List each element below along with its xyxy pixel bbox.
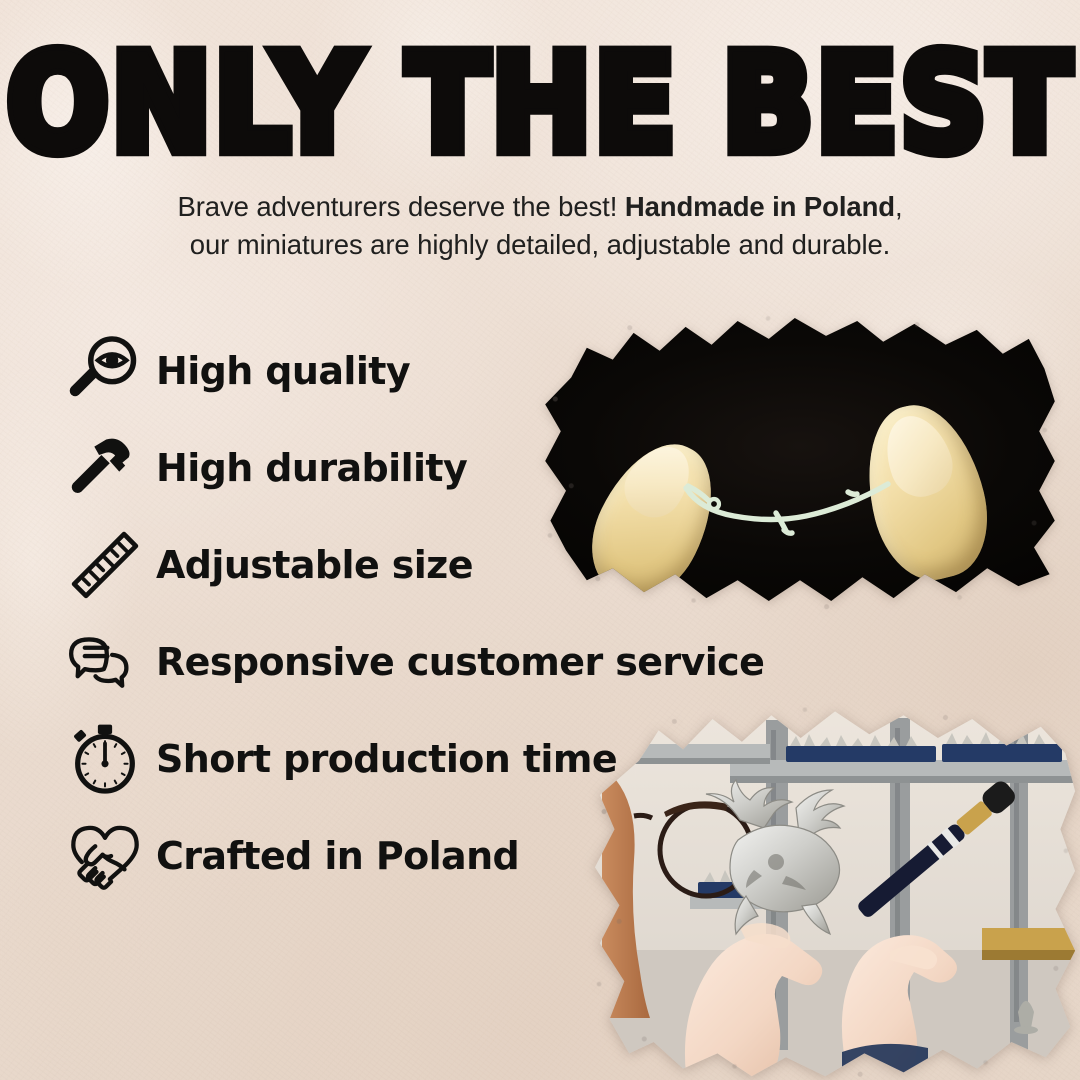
promo-poster: ONLY THE BEST Brave adventurers deserve …: [0, 0, 1080, 1080]
workshop-scene: [590, 700, 1080, 1080]
feature-label: Short production time: [156, 737, 617, 781]
feature-label: Crafted in Poland: [156, 834, 519, 878]
fingers-holding-miniature-part-photo: [540, 312, 1060, 610]
subtitle-tail: ,: [895, 191, 903, 222]
feature-label: High durability: [156, 446, 467, 490]
subtitle: Brave adventurers deserve the best! Hand…: [60, 188, 1020, 264]
subtitle-lead: Brave adventurers deserve the best!: [177, 191, 624, 222]
magnifier-eye-icon: [62, 333, 148, 409]
stopwatch-icon: [62, 721, 148, 797]
subtitle-emphasis: Handmade in Poland: [625, 191, 895, 222]
workshop-painting-miniature-photo: [590, 700, 1080, 1080]
feature-label: Adjustable size: [156, 543, 473, 587]
hammer-icon: [62, 430, 148, 506]
ruler-icon: [62, 527, 148, 603]
feature-label: Responsive customer service: [156, 640, 764, 684]
feature-item-responsive-customer-service: Responsive customer service: [62, 613, 782, 710]
speech-bubbles-icon: [62, 624, 148, 700]
miniature-part: [680, 480, 894, 538]
subtitle-line2: our miniatures are highly detailed, adju…: [190, 229, 890, 260]
feature-label: High quality: [156, 349, 410, 393]
handshake-heart-icon: [62, 817, 148, 895]
